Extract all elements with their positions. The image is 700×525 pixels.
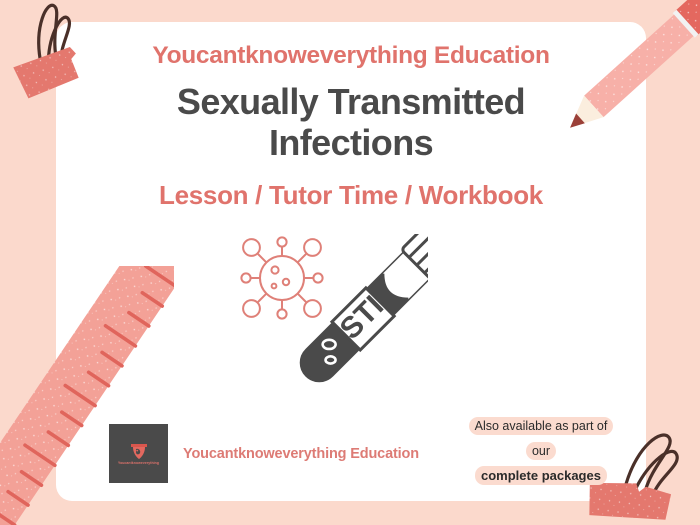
test-tube-icon: STI	[291, 234, 428, 391]
availability-badge: Also available as part of our complete p…	[452, 415, 630, 487]
badge-line-1: Also available as part of	[452, 415, 630, 437]
virus-icon	[241, 237, 322, 318]
subtitle: Lesson / Tutor Time / Workbook	[56, 163, 646, 211]
logo-label: Youcantknoweverything Education	[183, 446, 419, 462]
page-title: Sexually Transmitted Infections	[56, 70, 646, 163]
brand-title: Youcantknoweverything Education	[56, 22, 646, 70]
logo-mark: Youcantknoweverything	[109, 424, 168, 483]
illustration-group: STI	[238, 234, 428, 404]
page-title-line-2: Infections	[56, 122, 646, 163]
page-title-line-1: Sexually Transmitted	[56, 81, 646, 122]
badge-line-3: complete packages	[452, 465, 630, 487]
poster-canvas: Youcantknoweverything Education Sexually…	[0, 0, 700, 525]
footer-logo-row: Youcantknoweverything Youcantknoweveryth…	[109, 424, 419, 483]
logo-emblem-icon	[128, 441, 150, 461]
logo-mark-text: Youcantknoweverything	[109, 461, 168, 465]
badge-line-2: our	[452, 440, 630, 462]
headline-block: Youcantknoweverything Education Sexually…	[56, 22, 646, 211]
